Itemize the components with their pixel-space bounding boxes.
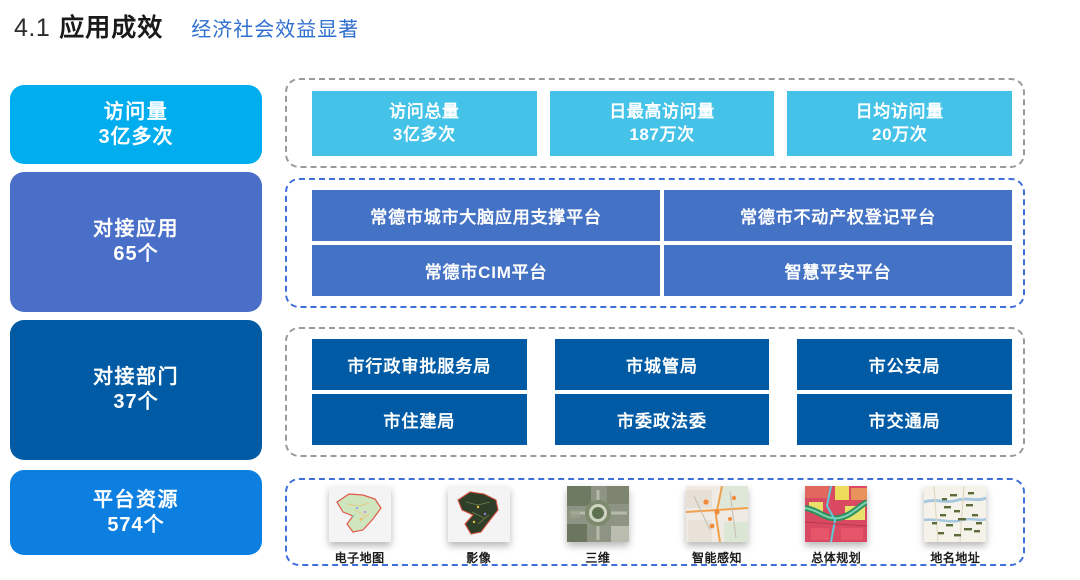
card-average-daily-visits[interactable]: 日均访问量 20万次 (787, 91, 1012, 156)
card-label: 市交通局 (869, 407, 941, 432)
stat-value: 65个 (113, 242, 158, 267)
resource-item-smart-sensing[interactable]: 智能感知 (686, 486, 748, 566)
resource-label: 地名地址 (930, 549, 980, 566)
resource-label: 电子地图 (335, 549, 385, 566)
card-label: 市行政审批服务局 (347, 352, 491, 377)
stat-label: 平台资源 (93, 488, 179, 513)
card-peak-daily-visits[interactable]: 日最高访问量 187万次 (550, 91, 775, 156)
resource-item-master-plan[interactable]: 总体规划 (805, 486, 867, 566)
master-plan-thumbnail (805, 486, 867, 542)
card-public-security-bureau[interactable]: 市公安局 (797, 339, 1012, 390)
satellite-imagery-thumbnail (448, 486, 510, 542)
resource-label: 总体规划 (811, 549, 861, 566)
card-transportation-bureau[interactable]: 市交通局 (797, 394, 1012, 445)
card-administrative-approval-bureau[interactable]: 市行政审批服务局 (312, 339, 527, 390)
card-line1: 日最高访问量 (609, 101, 715, 123)
card-label: 市城管局 (626, 352, 698, 377)
cards-applications: 常德市城市大脑应用支撑平台 常德市不动产权登记平台 常德市CIM平台 智慧平安平… (312, 190, 1012, 296)
dept-column-3: 市公安局 市交通局 (797, 339, 1012, 445)
card-line1: 日均访问量 (856, 101, 944, 123)
section-number: 4.1 (14, 14, 50, 43)
resource-item-place-name-address[interactable]: 地名地址 (924, 486, 986, 566)
stat-label: 对接应用 (93, 217, 179, 242)
card-label: 常德市CIM平台 (425, 258, 548, 283)
page-subtitle: 经济社会效益显著 (191, 13, 359, 42)
stat-value: 574个 (107, 513, 164, 538)
place-name-address-thumbnail (924, 486, 986, 542)
card-total-visits[interactable]: 访问总量 3亿多次 (312, 91, 537, 156)
card-line2: 187万次 (609, 124, 715, 146)
card-label: 市住建局 (383, 407, 455, 432)
resource-label: 智能感知 (692, 549, 742, 566)
smart-sensing-thumbnail (686, 486, 748, 542)
card-smart-safety-platform[interactable]: 智慧平安平台 (664, 245, 1012, 296)
dept-column-1: 市行政审批服务局 市住建局 (312, 339, 527, 445)
card-urban-management-bureau[interactable]: 市城管局 (555, 339, 770, 390)
card-line1: 访问总量 (389, 101, 459, 123)
stat-label: 对接部门 (93, 365, 179, 390)
page-header: 4.1 应用成效 经济社会效益显著 (14, 8, 359, 44)
card-city-brain-platform[interactable]: 常德市城市大脑应用支撑平台 (312, 190, 660, 241)
three-dimensional-thumbnail (567, 486, 629, 542)
resource-label: 三维 (585, 549, 610, 566)
resource-item-three-dimensional[interactable]: 三维 (567, 486, 629, 566)
card-label: 智慧平安平台 (785, 258, 892, 283)
stat-block-platform-resources[interactable]: 平台资源 574个 (10, 470, 262, 555)
resource-label: 影像 (466, 549, 491, 566)
stat-block-departments[interactable]: 对接部门 37个 (10, 320, 262, 460)
resource-item-imagery[interactable]: 影像 (448, 486, 510, 566)
stat-value: 3亿多次 (98, 125, 173, 150)
card-real-estate-registration-platform[interactable]: 常德市不动产权登记平台 (664, 190, 1012, 241)
stat-block-applications[interactable]: 对接应用 65个 (10, 172, 262, 312)
page-title: 应用成效 (59, 8, 163, 44)
card-housing-construction-bureau[interactable]: 市住建局 (312, 394, 527, 445)
resource-item-electronic-map[interactable]: 电子地图 (329, 486, 391, 566)
dept-column-2: 市城管局 市委政法委 (555, 339, 770, 445)
card-line2: 3亿多次 (389, 124, 459, 146)
card-label: 常德市不动产权登记平台 (740, 203, 936, 228)
card-cim-platform[interactable]: 常德市CIM平台 (312, 245, 660, 296)
stat-block-visits[interactable]: 访问量 3亿多次 (10, 85, 262, 164)
card-label: 市委政法委 (617, 407, 707, 432)
vector-map-thumbnail (329, 486, 391, 542)
card-label: 常德市城市大脑应用支撑平台 (370, 203, 601, 228)
card-line2: 20万次 (856, 124, 944, 146)
card-label: 市公安局 (869, 352, 941, 377)
cards-departments: 市行政审批服务局 市住建局 市城管局 市委政法委 市公安局 市交通局 (312, 339, 1012, 445)
stat-label: 访问量 (104, 100, 169, 125)
stat-value: 37个 (113, 390, 158, 415)
card-political-legal-committee[interactable]: 市委政法委 (555, 394, 770, 445)
resource-list: 电子地图 影像 (300, 486, 1015, 566)
slide-canvas: 4.1 应用成效 经济社会效益显著 访问量 3亿多次 访问总量 3亿多次 日最高… (0, 0, 1080, 580)
cards-visits: 访问总量 3亿多次 日最高访问量 187万次 日均访问量 20万次 (312, 91, 1012, 156)
